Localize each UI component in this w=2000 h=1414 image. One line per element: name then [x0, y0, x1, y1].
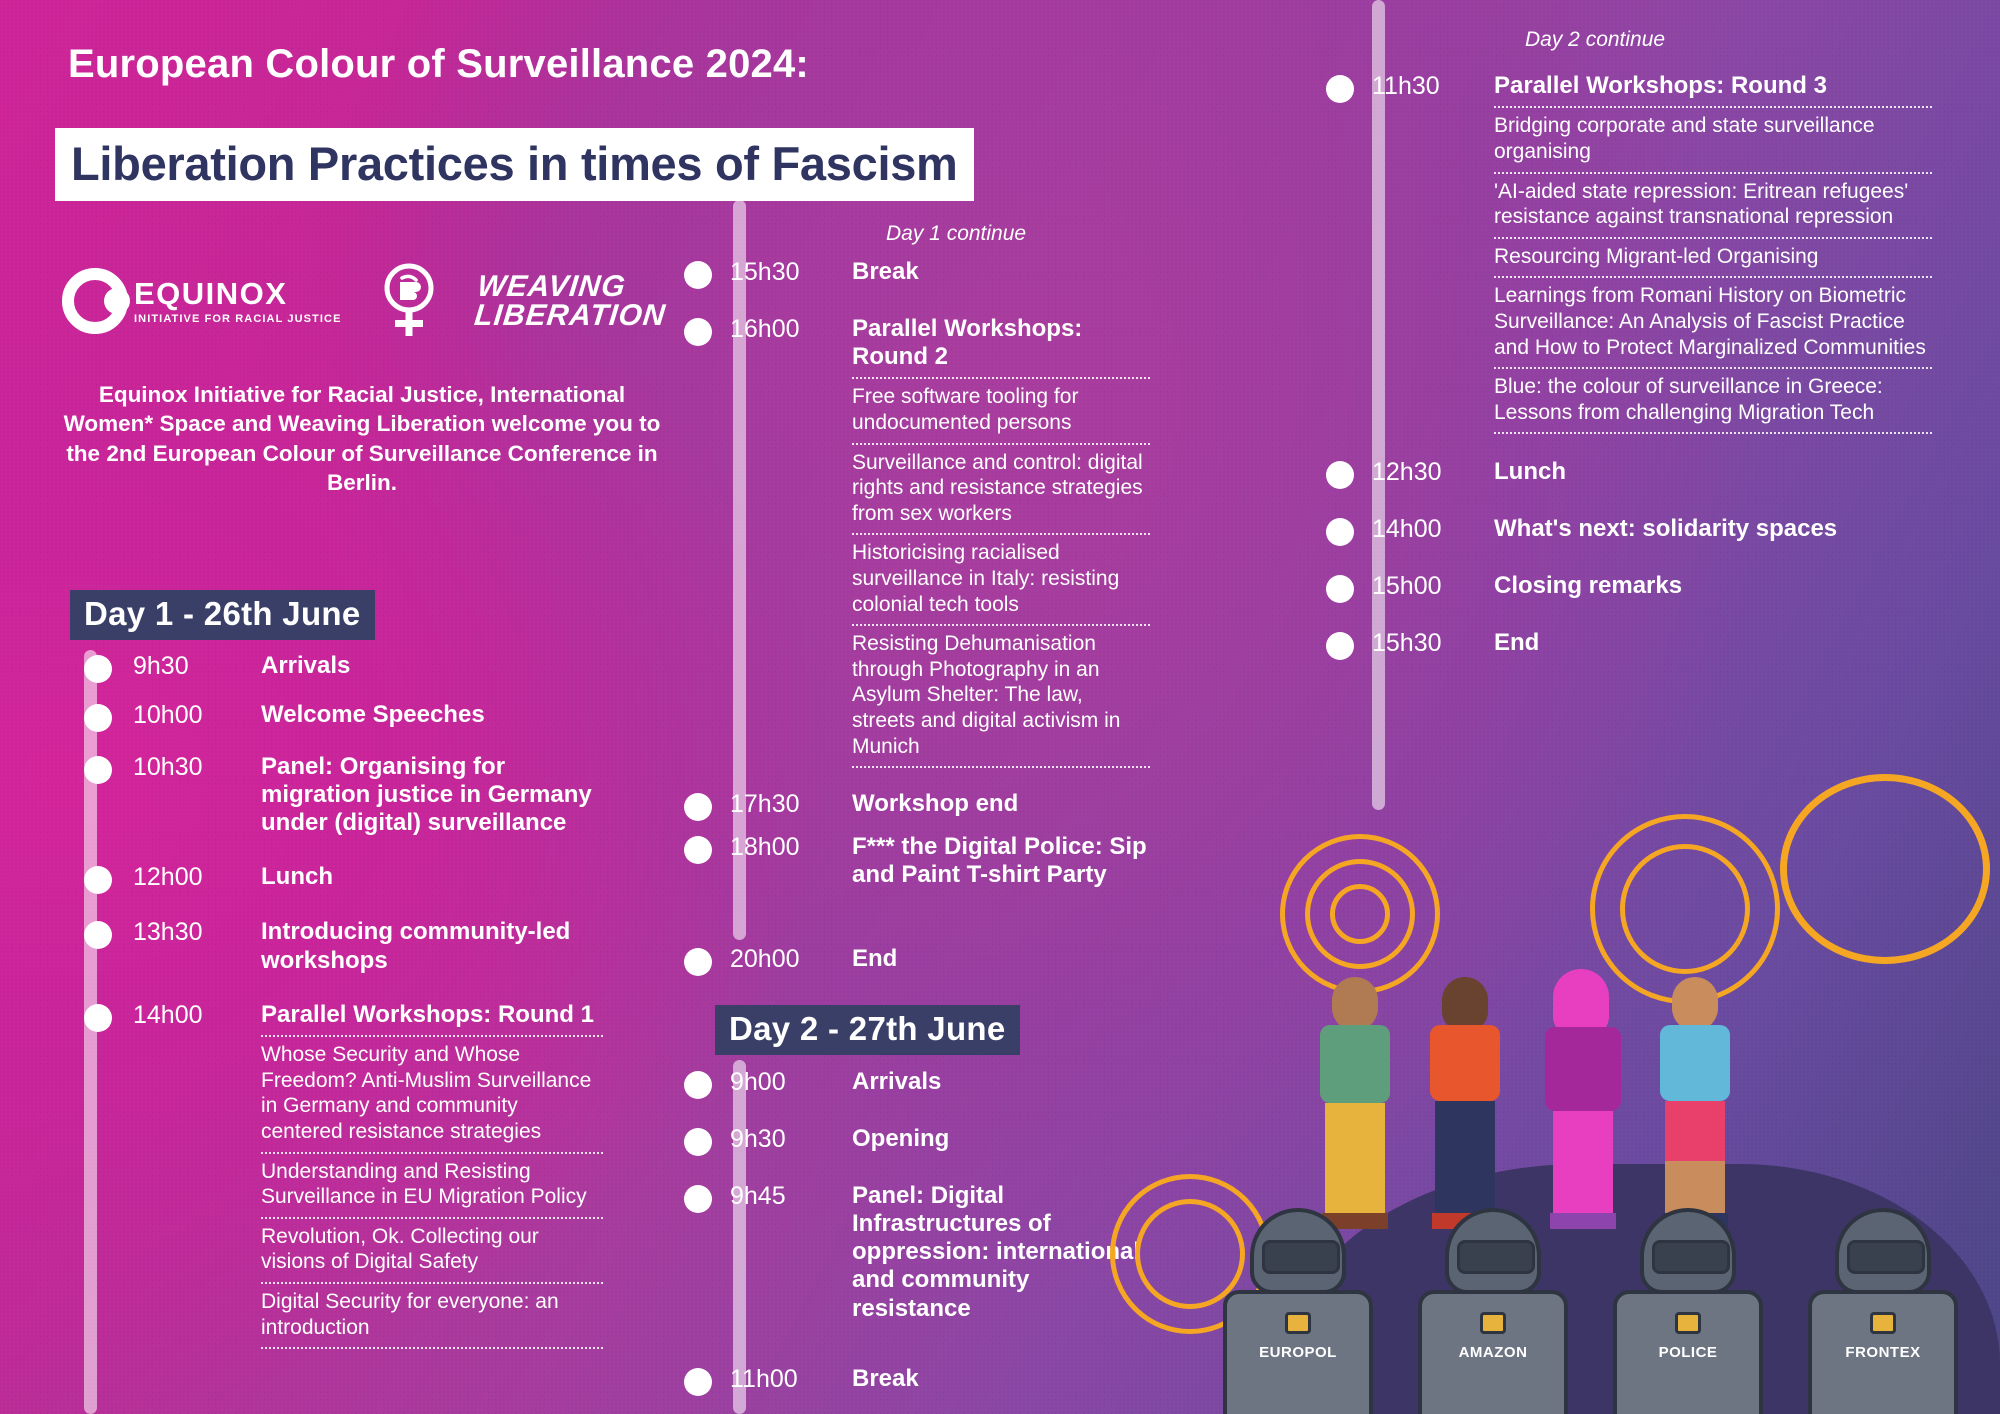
row-label: What's next: solidarity spaces — [1494, 515, 1932, 543]
row-label: Welcome Speeches — [261, 701, 603, 729]
workshop-item: Bridging corporate and state surveillanc… — [1494, 106, 1932, 171]
row-label: Panel: Digital Infrastructures of oppres… — [852, 1182, 1150, 1324]
timeline-dot-icon — [1326, 518, 1354, 546]
day1-banner: Day 1 - 26th June — [70, 590, 375, 640]
timeline-dot-icon — [684, 836, 712, 864]
subtitle-band: Liberation Practices in times of Fascism — [55, 128, 974, 201]
police-figure: POLICE — [1640, 1208, 1763, 1414]
protester-figure — [1320, 977, 1390, 1229]
equinox-logo: EQUINOX INITIATIVE FOR RACIAL JUSTICE — [62, 268, 342, 334]
row-time: 15h30 — [730, 258, 852, 287]
spiral-decoration — [1330, 884, 1390, 944]
row-label: Break — [852, 258, 1150, 286]
day2-timeline: 9h00 Arrivals 9h30 Opening 9h45 Panel: D… — [730, 1068, 1150, 1396]
workshop-item: Learnings from Romani History on Biometr… — [1494, 276, 1932, 367]
row-label: F*** the Digital Police: Sip and Paint T… — [852, 833, 1150, 890]
timeline-dot-icon — [684, 1071, 712, 1099]
day2-continue-label: Day 2 continue — [1525, 28, 1665, 52]
row-time: 17h30 — [730, 790, 852, 819]
timeline-dot-icon — [684, 793, 712, 821]
row-label: Arrivals — [261, 652, 603, 680]
timeline-row: 10h00 Welcome Speeches — [133, 701, 603, 730]
row-label: Arrivals — [852, 1068, 1150, 1096]
timeline-row: 14h00 Parallel Workshops: Round 1 Whose … — [133, 1001, 603, 1349]
timeline-row: 12h00 Lunch — [133, 863, 603, 892]
row-time: 15h00 — [1372, 572, 1494, 601]
workshop-item: Blue: the colour of surveillance in Gree… — [1494, 367, 1932, 434]
row-time: 10h30 — [133, 753, 261, 782]
timeline-dot-icon — [84, 866, 112, 894]
feminist-fist-icon — [380, 262, 438, 340]
workshop-item: Whose Security and Whose Freedom? Anti-M… — [261, 1035, 603, 1151]
timeline-row: 20h00 End — [730, 945, 1150, 974]
workshop-list: Bridging corporate and state surveillanc… — [1494, 106, 1932, 434]
timeline-row: 14h00 What's next: solidarity spaces — [1372, 515, 1932, 544]
timeline-dot-icon — [84, 704, 112, 732]
equinox-logo-tagline: INITIATIVE FOR RACIAL JUSTICE — [134, 313, 342, 325]
row-label: Panel: Organising for migration justice … — [261, 753, 603, 838]
row-label: Workshop end — [852, 790, 1150, 818]
workshop-item: Free software tooling for undocumented p… — [852, 377, 1150, 442]
timeline-row: 15h00 Closing remarks — [1372, 572, 1932, 601]
timeline-row: 10h30 Panel: Organising for migration ju… — [133, 753, 603, 838]
timeline-row: 16h00 Parallel Workshops: Round 2 Free s… — [730, 315, 1150, 769]
helmet-icon — [1445, 1208, 1541, 1294]
row-label: Opening — [852, 1125, 1150, 1153]
timeline-row: 12h30 Lunch — [1372, 458, 1932, 487]
day2-continue-timeline: 11h30 Parallel Workshops: Round 3 Bridgi… — [1372, 72, 1932, 659]
row-label: Lunch — [1494, 458, 1932, 486]
workshop-item: Resisting Dehumanisation through Photogr… — [852, 624, 1150, 768]
timeline-row: 9h00 Arrivals — [730, 1068, 1150, 1097]
helmet-icon — [1250, 1208, 1346, 1294]
row-time: 12h00 — [133, 863, 261, 892]
workshop-item: 'AI-aided state repression: Eritrean ref… — [1494, 172, 1932, 237]
row-time: 14h00 — [1372, 515, 1494, 544]
timeline-dot-icon — [1326, 75, 1354, 103]
timeline-row: 17h30 Workshop end — [730, 790, 1150, 819]
equinox-ring-icon — [62, 268, 128, 334]
weaving-logo-line2: LIBERATION — [473, 301, 667, 330]
row-label: Closing remarks — [1494, 572, 1932, 600]
row-time: 13h30 — [133, 918, 261, 947]
row-label: Parallel Workshops: Round 3 — [1494, 72, 1932, 100]
row-label: Parallel Workshops: Round 1 — [261, 1001, 603, 1029]
police-figure: EUROPOL — [1250, 1208, 1373, 1414]
row-time: 9h45 — [730, 1182, 852, 1211]
page-title: European Colour of Surveillance 2024: — [68, 42, 809, 87]
police-figure: AMAZON — [1445, 1208, 1568, 1414]
spiral-decoration — [1780, 774, 1990, 964]
day1-timeline: 9h30 Arrivals 10h00 Welcome Speeches 10h… — [133, 652, 603, 1351]
protester-figure — [1430, 977, 1500, 1229]
timeline-row: 15h30 Break — [730, 258, 1150, 287]
page-subtitle: Liberation Practices in times of Fascism — [71, 136, 958, 191]
row-time: 15h30 — [1372, 629, 1494, 658]
timeline-dot-icon — [84, 921, 112, 949]
workshop-item: Surveillance and control: digital rights… — [852, 443, 1150, 534]
workshop-item: Understanding and Resisting Surveillance… — [261, 1152, 603, 1217]
row-time: 9h30 — [730, 1125, 852, 1154]
timeline-dot-icon — [84, 1004, 112, 1032]
helmet-icon — [1835, 1208, 1931, 1294]
day1-continue-timeline: 15h30 Break 16h00 Parallel Workshops: Ro… — [730, 258, 1150, 975]
police-badge-label: EUROPOL — [1259, 1344, 1337, 1361]
timeline-row: 9h45 Panel: Digital Infrastructures of o… — [730, 1182, 1150, 1324]
workshop-item: Digital Security for everyone: an introd… — [261, 1282, 603, 1349]
timeline-dot-icon — [684, 948, 712, 976]
row-time: 10h00 — [133, 701, 261, 730]
row-time: 20h00 — [730, 945, 852, 974]
row-time: 11h30 — [1372, 72, 1494, 101]
protester-figure — [1660, 977, 1730, 1229]
timeline-row: 9h30 Arrivals — [133, 652, 603, 681]
row-label: End — [852, 945, 1150, 973]
timeline-dot-icon — [84, 756, 112, 784]
workshop-item: Historicising racialised surveillance in… — [852, 533, 1150, 624]
timeline-dot-icon — [684, 1368, 712, 1396]
row-label: Break — [852, 1365, 1150, 1393]
timeline-dot-icon — [1326, 575, 1354, 603]
police-badge-label: AMAZON — [1459, 1344, 1528, 1361]
timeline-dot-icon — [684, 1128, 712, 1156]
police-badge-label: POLICE — [1659, 1344, 1718, 1361]
row-time: 14h00 — [133, 1001, 261, 1030]
timeline-row: 15h30 End — [1372, 629, 1932, 658]
weaving-logo-line1: WEAVING — [476, 273, 670, 302]
timeline-row: 9h30 Opening — [730, 1125, 1150, 1154]
row-label: Introducing community-led workshops — [261, 918, 603, 975]
protester-figure — [1545, 969, 1621, 1229]
protest-illustration: EUROPOL AMAZON POLICE FRONTEX — [1260, 774, 2000, 1414]
timeline-row: 18h00 F*** the Digital Police: Sip and P… — [730, 833, 1150, 890]
timeline-dot-icon — [1326, 461, 1354, 489]
workshop-item: Resourcing Migrant-led Organising — [1494, 237, 1932, 277]
helmet-icon — [1640, 1208, 1736, 1294]
timeline-dot-icon — [1326, 632, 1354, 660]
day2-banner: Day 2 - 27th June — [715, 1005, 1020, 1055]
timeline-row: 11h30 Parallel Workshops: Round 3 Bridgi… — [1372, 72, 1932, 434]
row-time: 9h30 — [133, 652, 261, 681]
workshop-list: Whose Security and Whose Freedom? Anti-M… — [261, 1035, 603, 1349]
spiral-decoration — [1620, 844, 1750, 974]
timeline-dot-icon — [84, 655, 112, 683]
row-time: 18h00 — [730, 833, 852, 862]
row-label: Parallel Workshops: Round 2 — [852, 315, 1150, 372]
workshop-list: Free software tooling for undocumented p… — [852, 377, 1150, 768]
timeline-row: 13h30 Introducing community-led workshop… — [133, 918, 603, 975]
equinox-logo-name: EQUINOX — [134, 278, 342, 309]
timeline-row: 11h00 Break — [730, 1365, 1150, 1394]
row-time: 16h00 — [730, 315, 852, 344]
weaving-liberation-logo: WEAVING LIBERATION — [473, 273, 670, 330]
timeline-dot-icon — [684, 318, 712, 346]
workshop-item: Revolution, Ok. Collecting our visions o… — [261, 1217, 603, 1282]
row-label: End — [1494, 629, 1932, 657]
row-time: 12h30 — [1372, 458, 1494, 487]
timeline-dot-icon — [684, 1185, 712, 1213]
organiser-logos: EQUINOX INITIATIVE FOR RACIAL JUSTICE WE… — [62, 262, 667, 340]
timeline-dot-icon — [684, 261, 712, 289]
row-label: Lunch — [261, 863, 603, 891]
row-time: 11h00 — [730, 1365, 852, 1394]
conference-program-poster: European Colour of Surveillance 2024: Li… — [0, 0, 2000, 1414]
intro-paragraph: Equinox Initiative for Racial Justice, I… — [62, 380, 662, 497]
police-figure: FRONTEX — [1835, 1208, 1958, 1414]
row-time: 9h00 — [730, 1068, 852, 1097]
day1-continue-label: Day 1 continue — [886, 222, 1026, 246]
police-badge-label: FRONTEX — [1845, 1344, 1920, 1361]
